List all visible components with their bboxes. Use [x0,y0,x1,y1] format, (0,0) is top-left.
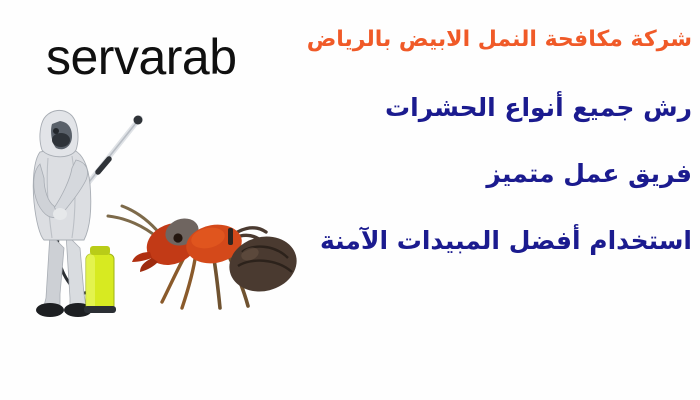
ad-bullet-3: استخدام أفضل المبيدات الآمنة [292,228,692,254]
ad-headline: شركة مكافحة النمل الابيض بالرياض [292,28,692,51]
ant-illustration [100,192,305,317]
worker-respirator-icon [52,133,70,147]
ad-bullet-2: فريق عمل متميز [292,161,692,187]
worker-boot-left [36,303,64,317]
ad-copy-block: شركة مكافحة النمل الابيض بالرياض رش جميع… [292,28,692,254]
ant-petiole [228,228,233,245]
ad-bullet-1: رش جميع أنواع الحشرات [292,95,692,121]
worker-glove [53,208,67,220]
ant-eye [173,233,182,242]
ant-antennae [108,206,160,238]
promo-banner: servarab [0,0,700,400]
brand-logo-text: servarab [46,32,237,82]
